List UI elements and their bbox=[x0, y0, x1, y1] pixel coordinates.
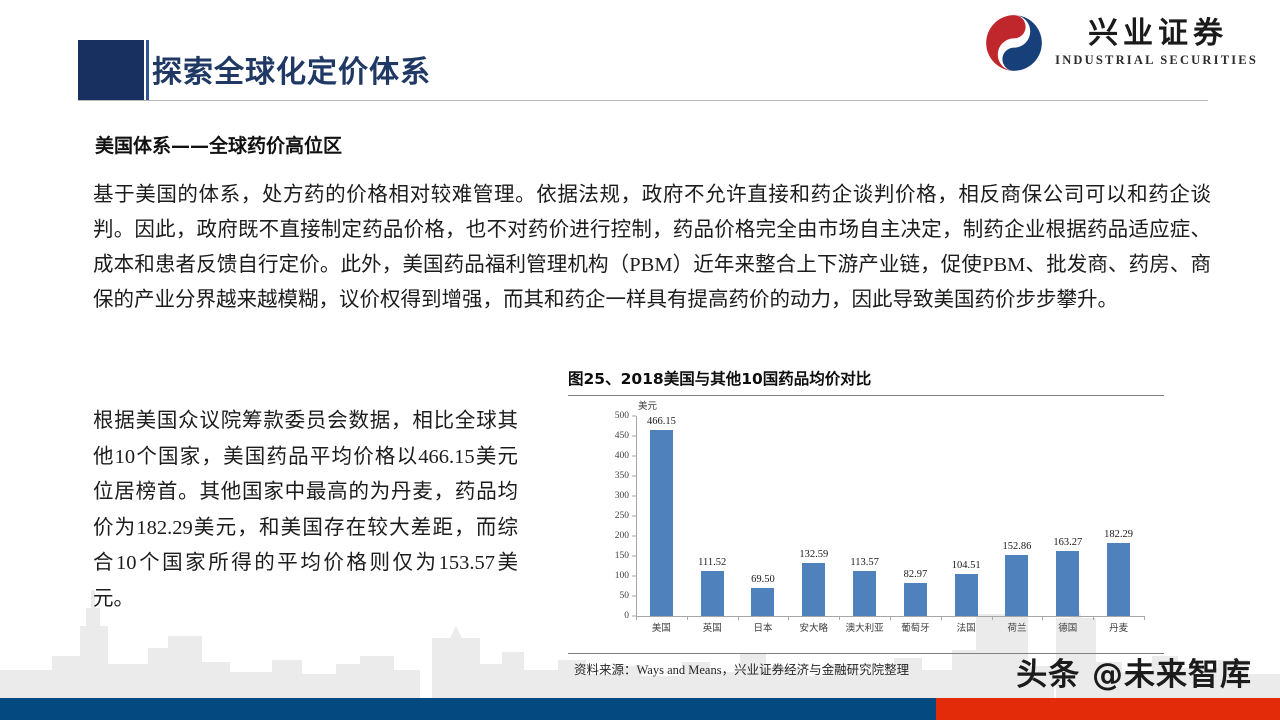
title-accent-bar bbox=[146, 40, 149, 100]
bar-value-label: 163.27 bbox=[1053, 537, 1082, 548]
x-axis-tick-label: 日本 bbox=[738, 620, 789, 634]
bar-slot: 69.50 bbox=[738, 416, 789, 616]
x-axis-tick-mark bbox=[1042, 616, 1043, 620]
figure-block: 图25、2018美国与其他10国药品均价对比 美元 05010015020025… bbox=[568, 367, 1164, 681]
bar-value-label: 466.15 bbox=[647, 416, 676, 427]
page-header: 探索全球化定价体系 兴业证券 INDUSTRIAL SECURITIES bbox=[0, 0, 1280, 105]
bar-slot: 152.86 bbox=[992, 416, 1043, 616]
x-axis-tick-mark bbox=[941, 616, 942, 620]
x-axis-tick-label: 澳大利亚 bbox=[839, 620, 890, 634]
y-axis-unit-label: 美元 bbox=[638, 398, 657, 412]
section-heading: 美国体系——全球药价高位区 bbox=[95, 131, 342, 158]
bar-value-label: 152.86 bbox=[1003, 541, 1032, 552]
bar-value-label: 182.29 bbox=[1104, 529, 1133, 540]
bar-series: 466.15111.5269.50132.59113.5782.97104.51… bbox=[636, 416, 1144, 616]
header-divider bbox=[78, 100, 1208, 101]
x-axis-tick-mark bbox=[890, 616, 891, 620]
x-axis-tick-label: 法国 bbox=[941, 620, 992, 634]
bar[interactable] bbox=[701, 571, 724, 616]
swirl-logo-icon bbox=[985, 14, 1043, 72]
logo-english-name: INDUSTRIAL SECURITIES bbox=[1053, 54, 1258, 67]
footer-bar-red bbox=[936, 698, 1280, 720]
plot-area: 050100150200250300350400450500 466.15111… bbox=[636, 416, 1144, 616]
figure-title: 图25、2018美国与其他10国药品均价对比 bbox=[568, 367, 1164, 395]
x-axis-labels: 美国英国日本安大略澳大利亚葡萄牙法国荷兰德国丹麦 bbox=[636, 620, 1144, 634]
bar-value-label: 69.50 bbox=[751, 574, 775, 585]
bar-chart: 美元 050100150200250300350400450500 466.15… bbox=[568, 396, 1164, 651]
footer-bar-blue bbox=[0, 698, 936, 720]
bar-slot: 113.57 bbox=[839, 416, 890, 616]
bar-value-label: 111.52 bbox=[698, 557, 726, 568]
bar-slot: 132.59 bbox=[788, 416, 839, 616]
x-axis-tick-mark bbox=[687, 616, 688, 620]
x-axis-tick-mark bbox=[992, 616, 993, 620]
x-axis-tick-mark bbox=[788, 616, 789, 620]
logo-text-group: 兴业证券 INDUSTRIAL SECURITIES bbox=[1053, 19, 1258, 67]
x-axis-tick-mark bbox=[636, 616, 637, 620]
x-axis-tick-label: 丹麦 bbox=[1093, 620, 1144, 634]
bar[interactable] bbox=[853, 571, 876, 616]
bar[interactable] bbox=[904, 583, 927, 616]
bar[interactable] bbox=[955, 574, 978, 616]
bar[interactable] bbox=[751, 588, 774, 616]
bar-value-label: 113.57 bbox=[850, 557, 879, 568]
bar[interactable] bbox=[1005, 555, 1028, 616]
bar[interactable] bbox=[1056, 551, 1079, 616]
x-axis-tick-label: 德国 bbox=[1042, 620, 1093, 634]
x-axis-tick-mark bbox=[1144, 616, 1145, 620]
x-axis-tick-mark bbox=[1093, 616, 1094, 620]
logo-chinese-name: 兴业证券 bbox=[1083, 19, 1228, 49]
site-watermark: 头条 @未来智库 bbox=[1016, 649, 1252, 694]
bar-value-label: 104.51 bbox=[952, 560, 981, 571]
page-title: 探索全球化定价体系 bbox=[152, 47, 431, 91]
x-axis-tick-label: 葡萄牙 bbox=[890, 620, 941, 634]
bar[interactable] bbox=[1107, 543, 1130, 616]
left-column-paragraph: 根据美国众议院筹款委员会数据，相比全球其他10个国家，美国药品平均价格以466.… bbox=[93, 404, 518, 617]
bar-slot: 104.51 bbox=[941, 416, 992, 616]
title-accent-block bbox=[78, 40, 144, 100]
bar[interactable] bbox=[802, 563, 825, 616]
x-axis-tick-label: 荷兰 bbox=[992, 620, 1043, 634]
main-paragraph: 基于美国的体系，处方药的价格相对较难管理。依据法规，政府不允许直接和药企谈判价格… bbox=[93, 178, 1211, 318]
bar-slot: 466.15 bbox=[636, 416, 687, 616]
bar[interactable] bbox=[650, 430, 673, 616]
x-axis-tick-mark bbox=[839, 616, 840, 620]
x-axis-tick-label: 安大略 bbox=[788, 620, 839, 634]
bar-slot: 111.52 bbox=[687, 416, 738, 616]
bar-slot: 82.97 bbox=[890, 416, 941, 616]
company-logo: 兴业证券 INDUSTRIAL SECURITIES bbox=[985, 14, 1258, 72]
x-axis-tick-label: 美国 bbox=[636, 620, 687, 634]
x-axis-tick-label: 英国 bbox=[687, 620, 738, 634]
bar-value-label: 82.97 bbox=[904, 569, 928, 580]
bar-slot: 182.29 bbox=[1093, 416, 1144, 616]
bar-value-label: 132.59 bbox=[799, 549, 828, 560]
x-axis-tick-mark bbox=[738, 616, 739, 620]
bar-slot: 163.27 bbox=[1042, 416, 1093, 616]
